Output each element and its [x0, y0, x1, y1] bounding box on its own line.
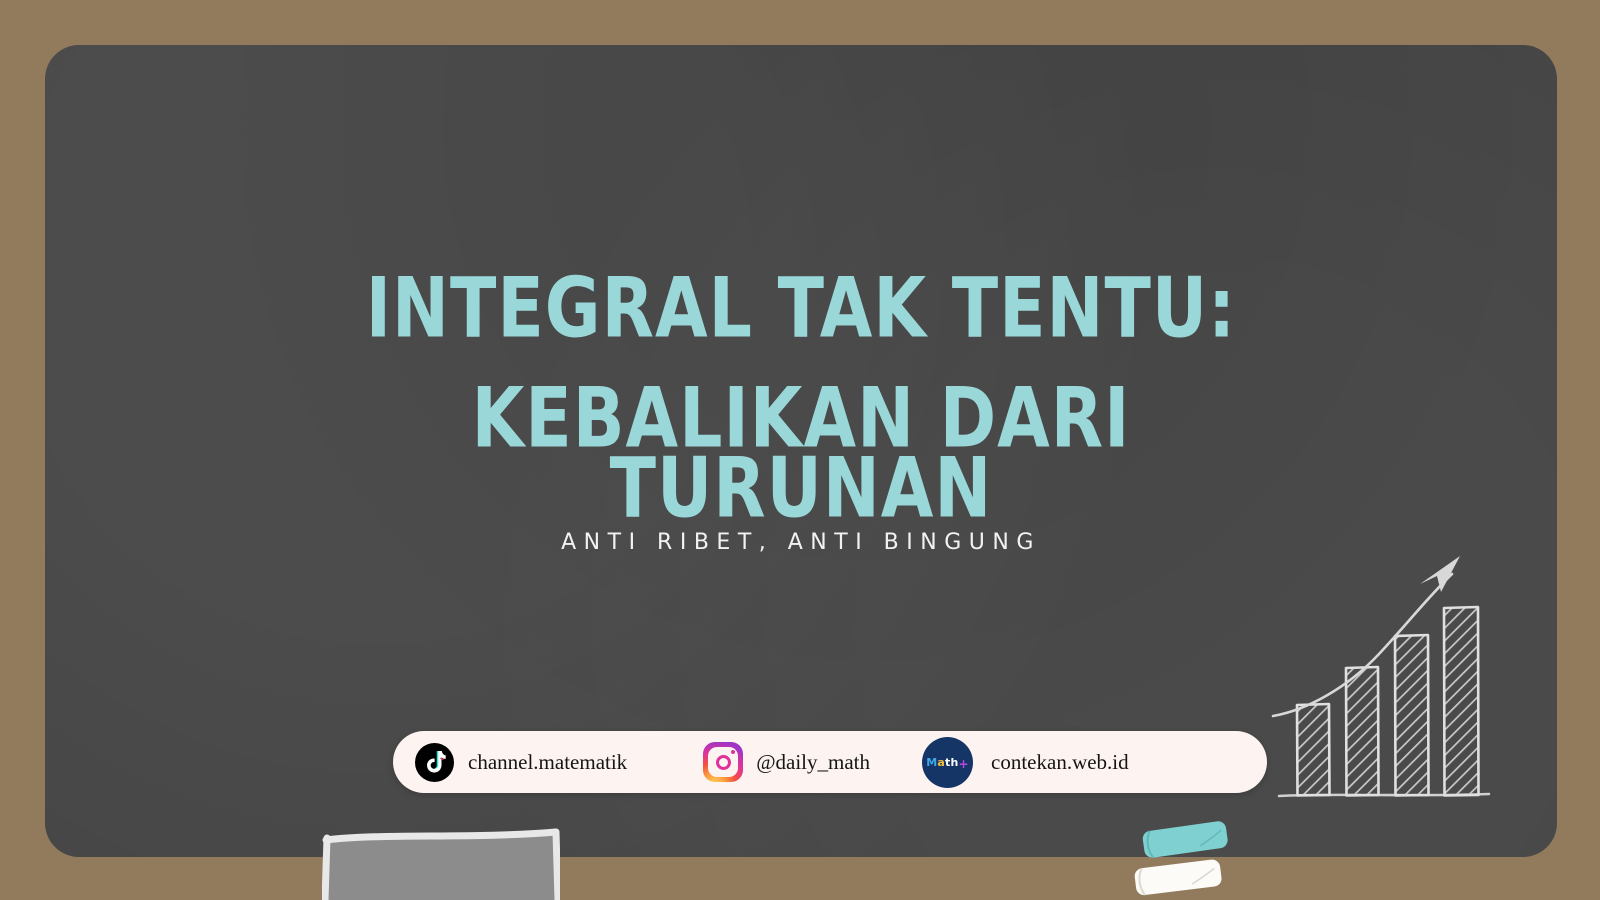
- instagram-icon: [703, 742, 743, 782]
- social-item-instagram[interactable]: @daily_math: [703, 742, 870, 782]
- math-logo-m: M: [926, 756, 937, 769]
- chart-bar-4: [1444, 607, 1479, 796]
- chalkboard-eraser: [322, 826, 560, 900]
- tiktok-icon: [415, 743, 454, 782]
- social-item-website[interactable]: Math+ contekan.web.id: [922, 737, 1129, 788]
- chalk-bar-chart: [1267, 550, 1507, 815]
- title-line-2: Turunan: [251, 435, 1351, 544]
- page-title: Integral Tak Tentu: Kebalikan dari Turun…: [251, 255, 1351, 524]
- social-item-tiktok[interactable]: channel.matematik: [415, 743, 627, 782]
- chart-bar-3: [1395, 635, 1429, 796]
- social-label-instagram: @daily_math: [756, 750, 870, 775]
- chalk-stick-white: [1134, 859, 1223, 896]
- chalk-stick-teal: [1142, 820, 1229, 858]
- math-logo-h: h: [950, 756, 958, 769]
- chart-bar-1: [1297, 704, 1330, 796]
- math-logo-plus: +: [959, 757, 969, 771]
- chalk-sticks: [1125, 818, 1245, 900]
- math-logo-a: a: [937, 756, 945, 769]
- chalkboard: Integral Tak Tentu: Kebalikan dari Turun…: [45, 45, 1557, 857]
- chart-bar-2: [1346, 667, 1379, 796]
- social-label-tiktok: channel.matematik: [468, 750, 627, 775]
- social-links-bar: channel.matematik @daily_math Math+ cont…: [393, 731, 1267, 793]
- math-logo-icon: Math+: [922, 737, 973, 788]
- page-subtitle: Anti Ribet, Anti Bingung: [251, 530, 1351, 555]
- social-label-website: contekan.web.id: [991, 750, 1129, 775]
